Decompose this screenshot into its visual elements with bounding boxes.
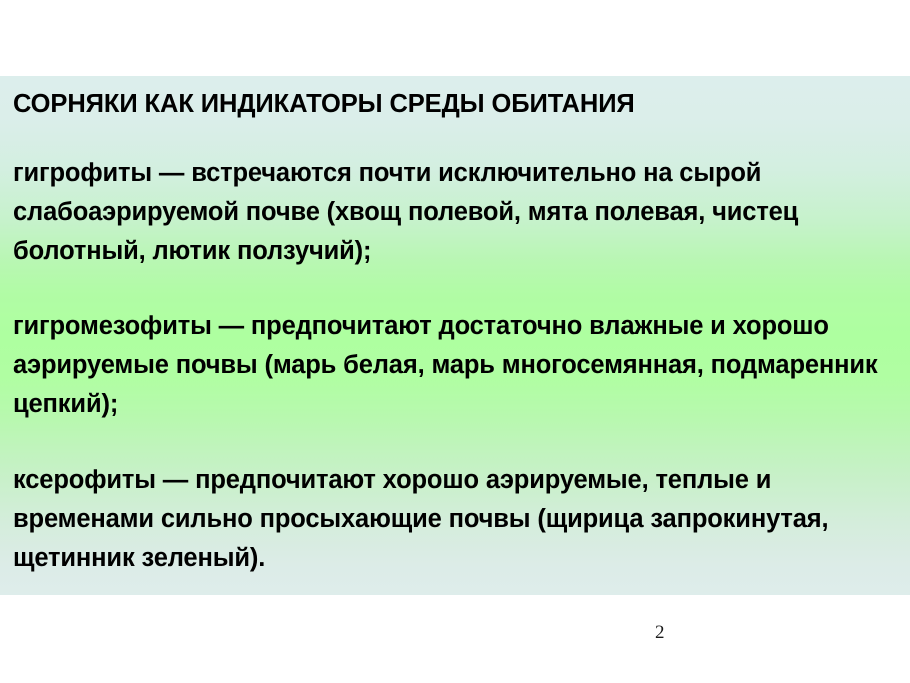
slide-text-container: СОРНЯКИ КАК ИНДИКАТОРЫ СРЕДЫ ОБИТАНИЯ ги… <box>13 76 903 578</box>
slide-title: СОРНЯКИ КАК ИНДИКАТОРЫ СРЕДЫ ОБИТАНИЯ <box>13 76 903 124</box>
presentation-slide: СОРНЯКИ КАК ИНДИКАТОРЫ СРЕДЫ ОБИТАНИЯ ги… <box>0 0 910 683</box>
paragraph-hygromesophytes: гигромезофиты — предпочитают достаточно … <box>13 307 901 424</box>
paragraph-xerophytes: ксерофиты — предпочитают хорошо аэрируем… <box>13 461 901 578</box>
page-number: 2 <box>655 622 665 644</box>
paragraph-hygrophytes: гигрофиты — встречаются почти исключител… <box>13 154 901 271</box>
